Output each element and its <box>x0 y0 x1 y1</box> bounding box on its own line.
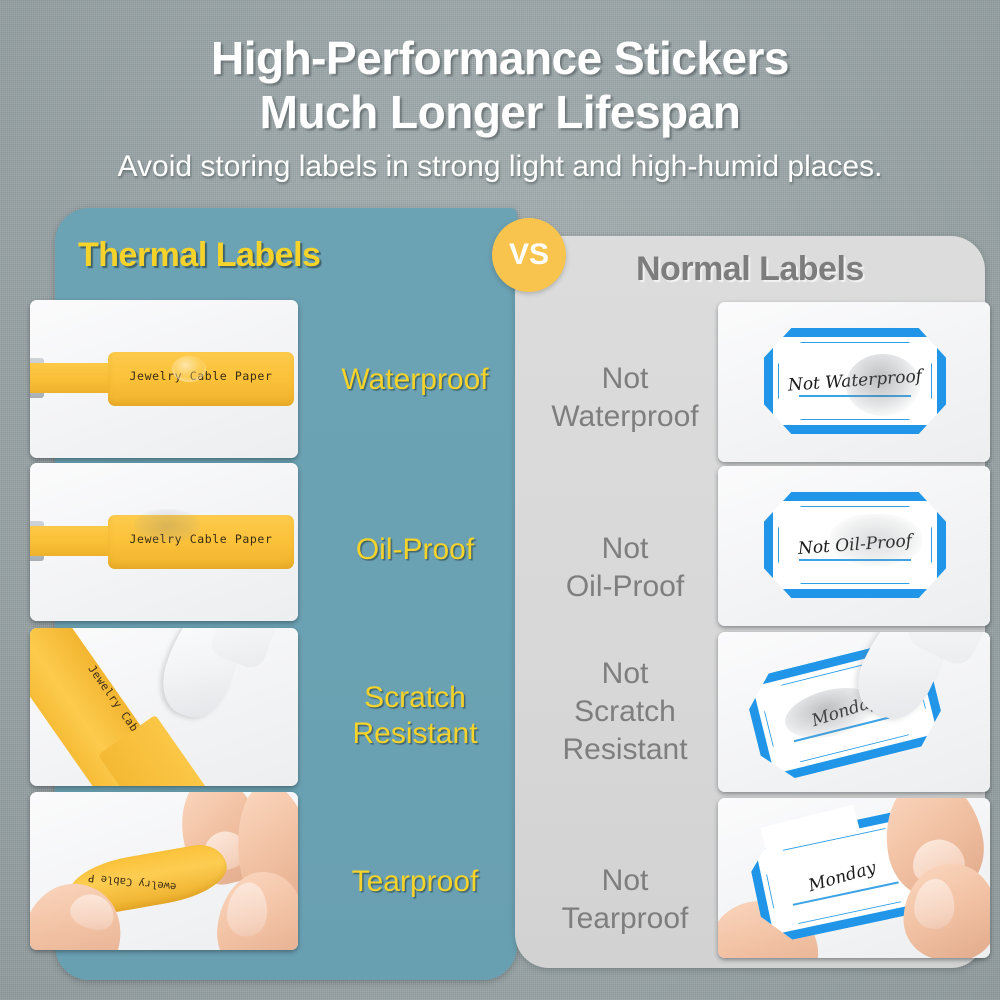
vs-badge: VS <box>492 218 566 292</box>
thermal-labels-heading: Thermal Labels <box>78 236 320 275</box>
feature-label-line-2: Resistant <box>310 716 520 752</box>
thermal-label-tearproof-photo: ewelry Cable P <box>30 792 298 950</box>
title-line-2: Much Longer Lifespan <box>0 86 1000 138</box>
vs-badge-label: VS <box>509 238 549 272</box>
not-feature-line-2: Scratch <box>525 693 725 731</box>
tilted-label-group: Monday <box>718 632 990 792</box>
not-feature-label-waterproof: Not Waterproof <box>525 360 725 436</box>
not-feature-line-1: Not <box>525 862 725 900</box>
thermal-label-oilproof-photo: Jewelry Cable Paper <box>30 463 298 621</box>
normal-label-scratch-photo: Monday <box>718 632 990 792</box>
water-smudge <box>846 354 920 416</box>
title-line-1: High-Performance Stickers <box>0 32 1000 84</box>
water-droplet-icon <box>172 356 206 382</box>
normal-label-tearproof-photo: Monday <box>718 798 990 958</box>
feature-label-oilproof: Oil-Proof <box>310 532 520 568</box>
not-feature-line-2: Waterproof <box>525 398 725 436</box>
normal-label-waterproof-photo: Not Waterproof <box>718 302 990 462</box>
infographic-root: High-Performance Stickers Much Longer Li… <box>0 0 1000 1000</box>
not-feature-label-scratch-resistant: Not Scratch Resistant <box>525 655 725 769</box>
thermal-label-waterproof-photo: Jewelry Cable Paper <box>30 300 298 458</box>
thermal-label-scratch-photo: Jewelry Cab <box>30 628 298 786</box>
oil-stain <box>830 514 922 566</box>
normal-label-oilproof-photo: Not Oil-Proof <box>718 466 990 626</box>
not-feature-line-2: Tearproof <box>525 900 725 938</box>
subtitle: Avoid storing labels in strong light and… <box>0 150 1000 184</box>
not-feature-line-3: Resistant <box>525 731 725 769</box>
tag-strip <box>30 363 116 393</box>
tag-strip <box>30 526 116 556</box>
not-feature-line-1: Not <box>525 655 725 693</box>
feature-label-waterproof: Waterproof <box>310 362 520 398</box>
feature-label-tearproof: Tearproof <box>310 864 520 900</box>
normal-labels-heading: Normal Labels <box>636 250 864 289</box>
diagonal-tag-group: Jewelry Cab <box>30 628 298 786</box>
not-feature-line-2: Oil-Proof <box>525 568 725 606</box>
fingernail <box>225 880 270 938</box>
not-feature-label-oilproof: Not Oil-Proof <box>525 530 725 606</box>
not-feature-line-1: Not <box>525 530 725 568</box>
fingernail <box>913 877 956 930</box>
not-feature-line-1: Not <box>525 360 725 398</box>
feature-label-line-1: Scratch <box>310 680 520 716</box>
feature-label-scratch-resistant: Scratch Resistant <box>310 680 520 752</box>
not-feature-label-tearproof: Not Tearproof <box>525 862 725 938</box>
oil-stain <box>134 509 200 543</box>
